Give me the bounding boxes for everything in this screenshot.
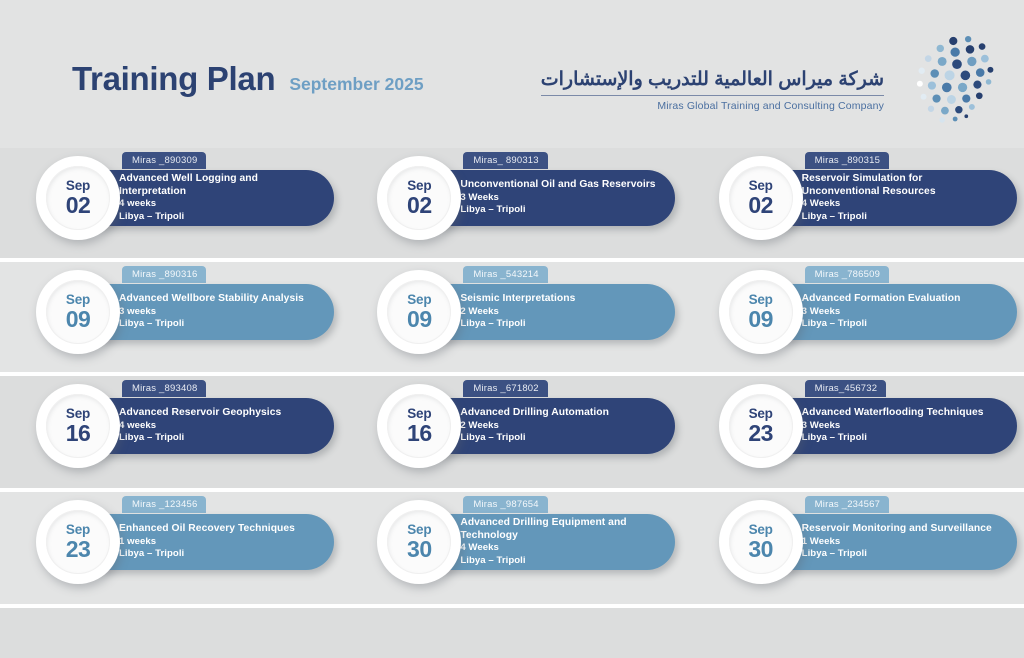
course-duration: 3 Weeks (802, 306, 1003, 318)
course-date-badge[interactable]: Sep23 (36, 500, 120, 584)
brand-block: شركة ميراس العالمية للتدريب والإستشارات … (541, 28, 1000, 132)
course-date-day: 30 (748, 538, 773, 561)
course-code-tab: Miras _987654 (463, 496, 547, 513)
course-code-tab: Miras _890309 (122, 152, 206, 169)
course-date-day: 16 (407, 422, 432, 445)
globe-dots-logo-icon (888, 28, 1000, 132)
course-date-day: 16 (66, 422, 91, 445)
page-title: Training Plan September 2025 (72, 62, 424, 95)
course-card[interactable]: Miras _890315Reservoir Simulation for Un… (725, 170, 1017, 226)
course-date-month: Sep (66, 407, 90, 421)
course-card-slot: Miras _890309Advanced Well Logging and I… (0, 148, 341, 258)
course-card[interactable]: Miras _987654Advanced Drilling Equipment… (383, 514, 675, 570)
course-title: Enhanced Oil Recovery Techniques (119, 523, 320, 536)
course-title: Reservoir Monitoring and Surveillance (802, 523, 1003, 536)
course-date-day: 23 (66, 538, 91, 561)
brand-name-arabic: شركة ميراس العالمية للتدريب والإستشارات (541, 68, 884, 92)
course-location: Libya – Tripoli (802, 211, 1003, 223)
course-card[interactable]: Miras _234567Reservoir Monitoring and Su… (725, 514, 1017, 570)
course-card-slot: Miras _893408Advanced Reservoir Geophysi… (0, 376, 341, 488)
poster-header: Training Plan September 2025 شركة ميراس … (0, 0, 1024, 148)
course-date-month: Sep (66, 293, 90, 307)
course-date-badge[interactable]: Sep02 (36, 156, 120, 240)
course-title: Advanced Formation Evaluation (802, 293, 1003, 306)
course-location: Libya – Tripoli (119, 432, 320, 444)
brand-name-english: Miras Global Training and Consulting Com… (541, 100, 884, 112)
course-card[interactable]: Miras _671802Advanced Drilling Automatio… (383, 398, 675, 454)
course-row: Miras _890316Advanced Wellbore Stability… (0, 262, 1024, 372)
course-duration: 4 Weeks (460, 542, 661, 554)
course-date-inner: Sep23 (729, 394, 793, 458)
course-location: Libya – Tripoli (802, 432, 1003, 444)
course-title: Advanced Drilling Equipment and Technolo… (460, 517, 661, 542)
course-duration: 4 weeks (119, 420, 320, 432)
course-date-inner: Sep02 (729, 166, 793, 230)
course-date-badge[interactable]: Sep02 (377, 156, 461, 240)
course-duration: 1 Weeks (802, 536, 1003, 548)
course-location: Libya – Tripoli (460, 318, 661, 330)
course-date-day: 02 (407, 194, 432, 217)
brand-divider (541, 95, 884, 96)
course-card-body: Advanced Reservoir Geophysics4 weeksLiby… (119, 398, 320, 454)
course-date-badge[interactable]: Sep16 (36, 384, 120, 468)
course-card-body: Reservoir Simulation for Unconventional … (802, 170, 1003, 226)
course-card-slot: Miras _786509Advanced Formation Evaluati… (683, 262, 1024, 372)
course-date-day: 30 (407, 538, 432, 561)
course-date-inner: Sep30 (729, 510, 793, 574)
course-location: Libya – Tripoli (802, 318, 1003, 330)
course-location: Libya – Tripoli (460, 204, 661, 216)
course-date-month: Sep (749, 523, 773, 537)
course-code-tab: Miras_ 890313 (463, 152, 547, 169)
course-date-inner: Sep09 (387, 280, 451, 344)
course-code-tab: Miras _671802 (463, 380, 547, 397)
course-location: Libya – Tripoli (119, 548, 320, 560)
course-date-day: 02 (748, 194, 773, 217)
course-date-inner: Sep16 (387, 394, 451, 458)
course-duration: 3 weeks (119, 306, 320, 318)
course-title: Advanced Drilling Automation (460, 407, 661, 420)
course-card-body: Reservoir Monitoring and Surveillance1 W… (802, 514, 1003, 570)
course-location: Libya – Tripoli (119, 211, 320, 223)
footer-band (0, 608, 1024, 658)
course-title: Advanced Reservoir Geophysics (119, 407, 320, 420)
course-duration: 2 Weeks (460, 306, 661, 318)
course-card[interactable]: Miras _123456Enhanced Oil Recovery Techn… (42, 514, 334, 570)
course-code-tab: Miras _786509 (805, 266, 889, 283)
title-main: Training Plan (72, 62, 275, 95)
course-duration: 3 Weeks (460, 192, 661, 204)
course-date-day: 23 (748, 422, 773, 445)
course-card[interactable]: Miras _890309Advanced Well Logging and I… (42, 170, 334, 226)
course-title: Advanced Well Logging and Interpretation (119, 173, 320, 198)
course-date-inner: Sep02 (46, 166, 110, 230)
course-code-tab: Miras _890316 (122, 266, 206, 283)
course-code-tab: Miras _123456 (122, 496, 206, 513)
course-card[interactable]: Miras _890316Advanced Wellbore Stability… (42, 284, 334, 340)
course-location: Libya – Tripoli (460, 432, 661, 444)
course-card[interactable]: Miras _893408Advanced Reservoir Geophysi… (42, 398, 334, 454)
course-row: Miras _123456Enhanced Oil Recovery Techn… (0, 492, 1024, 604)
course-date-badge[interactable]: Sep23 (719, 384, 803, 468)
course-card-body: Advanced Waterflooding Techniques3 Weeks… (802, 398, 1003, 454)
course-duration: 1 weeks (119, 536, 320, 548)
course-code-tab: Miras _543214 (463, 266, 547, 283)
course-title: Unconventional Oil and Gas Reservoirs (460, 179, 661, 192)
course-location: Libya – Tripoli (119, 318, 320, 330)
course-date-inner: Sep09 (729, 280, 793, 344)
course-card-slot: Miras _890315Reservoir Simulation for Un… (683, 148, 1024, 258)
course-date-badge[interactable]: Sep09 (36, 270, 120, 354)
course-date-month: Sep (66, 523, 90, 537)
course-card[interactable]: Miras _543214Seismic Interpretations2 We… (383, 284, 675, 340)
course-code-tab: Miras_456732 (805, 380, 887, 397)
course-card-slot: Miras _671802Advanced Drilling Automatio… (341, 376, 682, 488)
course-date-badge[interactable]: Sep16 (377, 384, 461, 468)
course-location: Libya – Tripoli (802, 548, 1003, 560)
training-plan-poster: Training Plan September 2025 شركة ميراس … (0, 0, 1024, 658)
course-date-month: Sep (407, 523, 431, 537)
course-date-inner: Sep30 (387, 510, 451, 574)
course-date-day: 09 (748, 308, 773, 331)
course-card-body: Advanced Wellbore Stability Analysis3 we… (119, 284, 320, 340)
course-date-day: 09 (407, 308, 432, 331)
course-card-slot: Miras _987654Advanced Drilling Equipment… (341, 492, 682, 604)
course-duration: 4 weeks (119, 198, 320, 210)
row-divider-4 (0, 604, 1024, 608)
course-date-inner: Sep09 (46, 280, 110, 344)
course-card-body: Unconventional Oil and Gas Reservoirs3 W… (460, 170, 661, 226)
course-code-tab: Miras _234567 (805, 496, 889, 513)
course-title: Advanced Waterflooding Techniques (802, 407, 1003, 420)
title-subtitle-month: September 2025 (289, 76, 423, 94)
course-date-inner: Sep02 (387, 166, 451, 230)
course-card-body: Enhanced Oil Recovery Techniques1 weeksL… (119, 514, 320, 570)
course-title: Reservoir Simulation for Unconventional … (802, 173, 1003, 198)
course-title: Seismic Interpretations (460, 293, 661, 306)
course-card[interactable]: Miras _786509Advanced Formation Evaluati… (725, 284, 1017, 340)
course-date-inner: Sep23 (46, 510, 110, 574)
course-date-badge[interactable]: Sep09 (719, 270, 803, 354)
course-card-slot: Miras _234567Reservoir Monitoring and Su… (683, 492, 1024, 604)
course-date-month: Sep (749, 407, 773, 421)
course-card-slot: Miras _890316Advanced Wellbore Stability… (0, 262, 341, 372)
course-duration: 2 Weeks (460, 420, 661, 432)
course-date-month: Sep (749, 179, 773, 193)
course-card-body: Advanced Drilling Automation2 WeeksLibya… (460, 398, 661, 454)
course-card-slot: Miras _543214Seismic Interpretations2 We… (341, 262, 682, 372)
course-card-slot: Miras_ 890313Unconventional Oil and Gas … (341, 148, 682, 258)
course-date-inner: Sep16 (46, 394, 110, 458)
course-duration: 3 Weeks (802, 420, 1003, 432)
course-card[interactable]: Miras_ 890313Unconventional Oil and Gas … (383, 170, 675, 226)
course-date-badge[interactable]: Sep09 (377, 270, 461, 354)
course-card-body: Advanced Drilling Equipment and Technolo… (460, 514, 661, 570)
course-date-day: 09 (66, 308, 91, 331)
course-code-tab: Miras _893408 (122, 380, 206, 397)
course-date-month: Sep (66, 179, 90, 193)
course-code-tab: Miras _890315 (805, 152, 889, 169)
course-date-month: Sep (407, 293, 431, 307)
course-title: Advanced Wellbore Stability Analysis (119, 293, 320, 306)
course-row: Miras _893408Advanced Reservoir Geophysi… (0, 376, 1024, 488)
course-date-month: Sep (749, 293, 773, 307)
course-date-month: Sep (407, 179, 431, 193)
course-card[interactable]: Miras_456732Advanced Waterflooding Techn… (725, 398, 1017, 454)
course-duration: 4 Weeks (802, 198, 1003, 210)
course-date-day: 02 (66, 194, 91, 217)
course-card-slot: Miras _123456Enhanced Oil Recovery Techn… (0, 492, 341, 604)
course-card-body: Seismic Interpretations2 WeeksLibya – Tr… (460, 284, 661, 340)
course-date-badge[interactable]: Sep02 (719, 156, 803, 240)
course-card-body: Advanced Formation Evaluation3 WeeksLiby… (802, 284, 1003, 340)
course-location: Libya – Tripoli (460, 555, 661, 567)
course-date-badge[interactable]: Sep30 (719, 500, 803, 584)
course-row: Miras _890309Advanced Well Logging and I… (0, 148, 1024, 258)
course-date-month: Sep (407, 407, 431, 421)
course-card-body: Advanced Well Logging and Interpretation… (119, 170, 320, 226)
course-card-slot: Miras_456732Advanced Waterflooding Techn… (683, 376, 1024, 488)
course-date-badge[interactable]: Sep30 (377, 500, 461, 584)
